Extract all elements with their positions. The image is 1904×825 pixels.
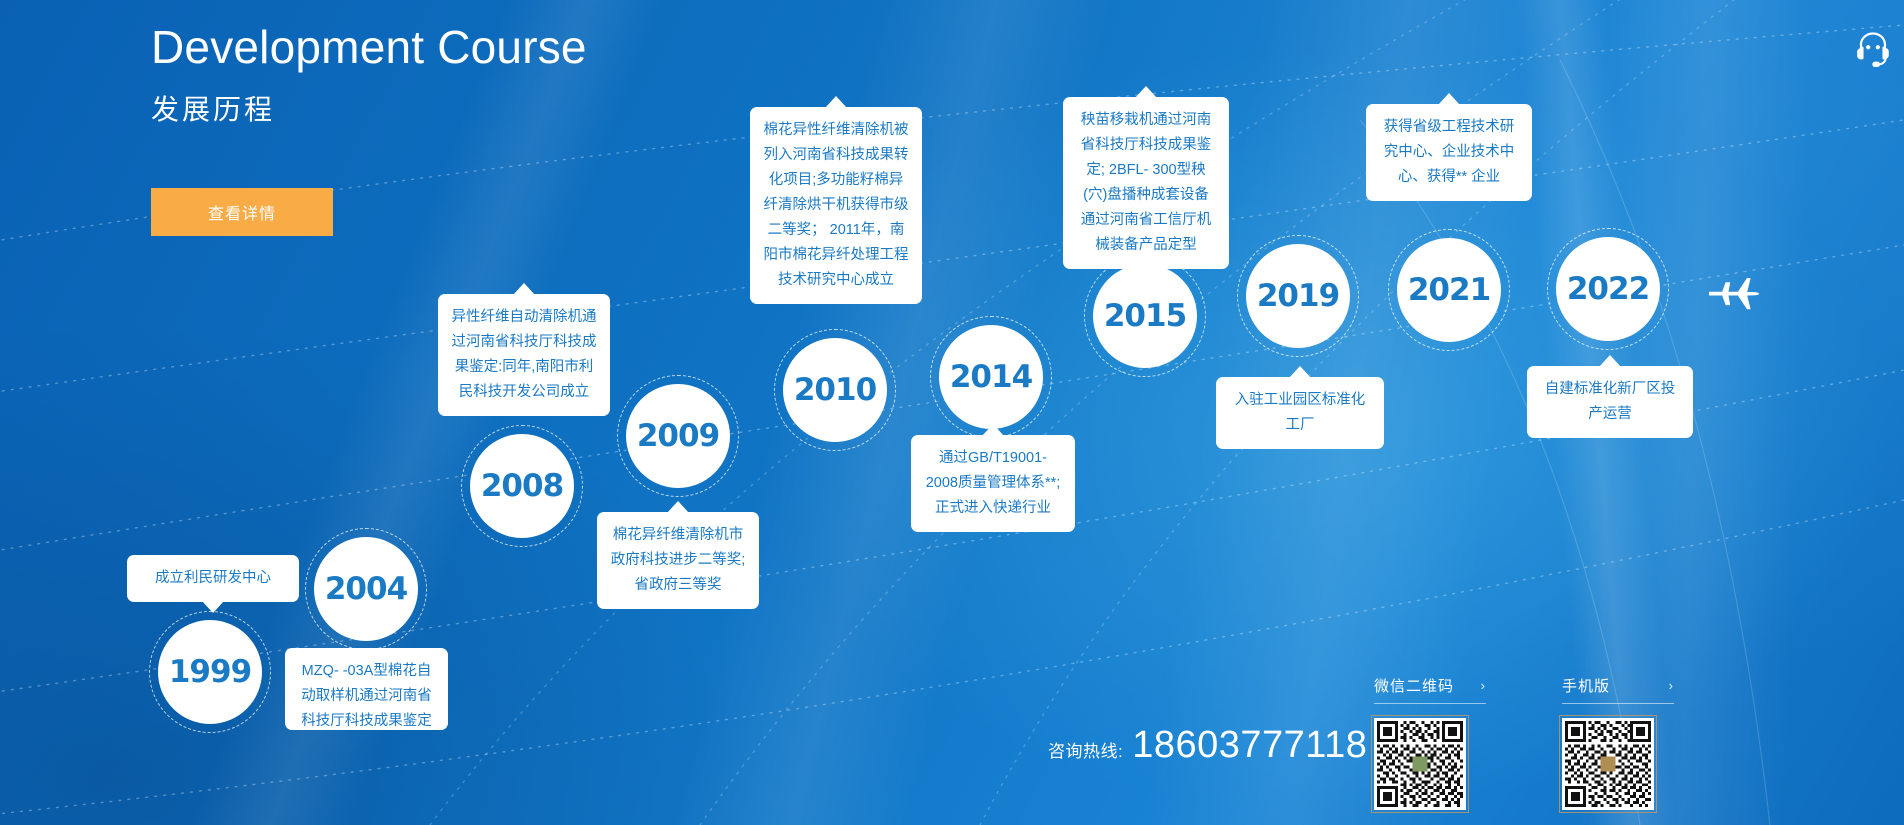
timeline-card-text: 秧苗移栽机通过河南省科技厅科技成果鉴定; 2BFL- 300型秧(穴)盘播种成套…	[1081, 112, 1212, 253]
timeline-year-label: 2009	[637, 418, 719, 454]
hotline-block: 咨询热线: 18603777118	[1048, 724, 1367, 767]
card-pointer-icon	[1135, 86, 1157, 98]
timeline-year-circle-2004[interactable]: 2004	[314, 537, 418, 641]
hotline-label: 咨询热线:	[1048, 737, 1123, 762]
qr-block-mobile[interactable]: 手机版 ›	[1562, 675, 1674, 810]
timeline-year-circle-2019[interactable]: 2019	[1246, 244, 1350, 348]
timeline-card-2015: 秧苗移栽机通过河南省科技厅科技成果鉴定; 2BFL- 300型秧(穴)盘播种成套…	[1063, 97, 1229, 269]
qr-block-wechat[interactable]: 微信二维码 ›	[1374, 675, 1486, 810]
card-pointer-icon	[1438, 93, 1460, 105]
timeline-year-label: 2019	[1257, 278, 1339, 314]
qr-label: 手机版	[1562, 675, 1610, 696]
card-pointer-icon	[825, 96, 847, 108]
timeline-card-text: 异性纤维自动清除机通过河南省科技厅科技成果鉴定:同年,南阳市利民科技开发公司成立	[452, 309, 597, 400]
page-background: Development Course 发展历程 查看详情 成立利民研发中心 19…	[0, 0, 1904, 825]
timeline-card-text: 棉花异纤维清除机市政府科技进步二等奖;省政府三等奖	[611, 527, 746, 593]
timeline-year-label: 2008	[481, 468, 563, 504]
timeline-card-2008: 异性纤维自动清除机通过河南省科技厅科技成果鉴定:同年,南阳市利民科技开发公司成立	[438, 294, 610, 416]
timeline-year-circle-2008[interactable]: 2008	[470, 434, 574, 538]
card-pointer-icon	[667, 501, 689, 513]
timeline-card-2022: 自建标准化新厂区投产运营	[1527, 366, 1693, 438]
timeline-card-text: MZQ- -03A型棉花自动取样机通过河南省科技厅科技成果鉴定	[301, 663, 432, 729]
timeline-year-circle-2021[interactable]: 2021	[1397, 238, 1501, 342]
timeline-year-label: 2022	[1567, 271, 1649, 307]
timeline-year-circle-2009[interactable]: 2009	[626, 384, 730, 488]
qr-code-image-mobile	[1562, 718, 1654, 810]
chevron-right-icon: ›	[1669, 678, 1674, 693]
qr-label: 微信二维码	[1374, 675, 1454, 696]
timeline-card-2010: 棉花异性纤维清除机被列入河南省科技成果转化项目;多功能籽棉异纤清除烘干机获得市级…	[750, 107, 922, 304]
card-pointer-icon	[982, 424, 1004, 436]
page-header: Development Course 发展历程	[151, 22, 587, 128]
timeline-card-text: 棉花异性纤维清除机被列入河南省科技成果转化项目;多功能籽棉异纤清除烘干机获得市级…	[764, 122, 909, 288]
timeline-card-2021: 获得省级工程技术研究中心、企业技术中心、获得** 企业	[1366, 104, 1532, 201]
hotline-number: 18603777118	[1132, 724, 1367, 767]
timeline-year-label: 2004	[325, 571, 407, 607]
qr-code-image-wechat	[1374, 718, 1466, 810]
timeline-card-2014: 通过GB/T19001-2008质量管理体系**;正式进入快递行业	[911, 435, 1075, 532]
timeline-card-2009: 棉花异纤维清除机市政府科技进步二等奖;省政府三等奖	[597, 512, 759, 609]
customer-service-icon[interactable]	[1842, 18, 1904, 80]
timeline-year-circle-2022[interactable]: 2022	[1556, 237, 1660, 341]
timeline-year-label: 2015	[1104, 298, 1186, 334]
timeline-card-text: 获得省级工程技术研究中心、企业技术中心、获得** 企业	[1384, 119, 1515, 185]
chevron-right-icon: ›	[1481, 678, 1486, 693]
airplane-icon	[1705, 272, 1767, 316]
timeline-year-circle-2014[interactable]: 2014	[939, 325, 1043, 429]
view-details-button[interactable]: 查看详情	[151, 188, 333, 236]
timeline-year-label: 2014	[950, 359, 1032, 395]
timeline-card-text: 通过GB/T19001-2008质量管理体系**;正式进入快递行业	[926, 450, 1061, 516]
qr-header-wechat[interactable]: 微信二维码 ›	[1374, 675, 1486, 704]
card-pointer-icon	[513, 283, 535, 295]
timeline-year-label: 2010	[794, 372, 876, 408]
timeline-card-2019: 入驻工业园区标准化工厂	[1216, 377, 1384, 449]
card-pointer-icon	[1599, 355, 1621, 367]
timeline-card-2004: MZQ- -03A型棉花自动取样机通过河南省科技厅科技成果鉴定	[285, 648, 448, 730]
timeline-year-label: 1999	[169, 654, 251, 690]
card-pointer-icon	[1289, 366, 1311, 378]
timeline-year-label: 2021	[1408, 272, 1490, 308]
page-title-chinese: 发展历程	[151, 88, 587, 128]
timeline-card-1999: 成立利民研发中心	[127, 555, 299, 602]
timeline-card-text: 入驻工业园区标准化工厂	[1235, 392, 1366, 433]
page-title-english: Development Course	[151, 22, 587, 74]
timeline-year-circle-1999[interactable]: 1999	[158, 620, 262, 724]
timeline-year-circle-2015[interactable]: 2015	[1093, 264, 1197, 368]
timeline-card-text: 成立利民研发中心	[155, 570, 271, 586]
timeline-year-circle-2010[interactable]: 2010	[783, 338, 887, 442]
qr-header-mobile[interactable]: 手机版 ›	[1562, 675, 1674, 704]
timeline-card-text: 自建标准化新厂区投产运营	[1545, 381, 1676, 422]
card-pointer-icon	[356, 648, 378, 649]
